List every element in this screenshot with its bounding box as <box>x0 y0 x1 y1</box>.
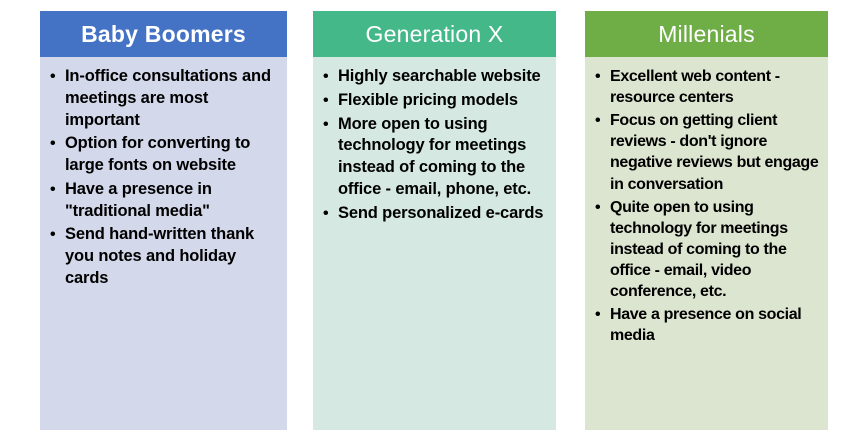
comparison-board: Baby Boomers In-office consultations and… <box>0 0 845 441</box>
list-item: Excellent web content - resource centers <box>593 66 820 108</box>
column-body-millenials: Excellent web content - resource centers… <box>585 57 828 430</box>
column-body-baby-boomers: In-office consultations and meetings are… <box>40 57 287 430</box>
list-item: Flexible pricing models <box>321 90 548 112</box>
list-item: Focus on getting client reviews - don't … <box>593 110 820 194</box>
list-item: More open to using technology for meetin… <box>321 114 548 201</box>
list-item: Quite open to using technology for meeti… <box>593 197 820 303</box>
list-item: Send personalized e-cards <box>321 203 548 225</box>
column-baby-boomers: Baby Boomers In-office consultations and… <box>40 11 287 430</box>
list-item: Have a presence in "traditional media" <box>48 179 279 223</box>
column-generation-x: Generation X Highly searchable website F… <box>313 11 556 430</box>
list-item: Send hand-written thank you notes and ho… <box>48 224 279 289</box>
column-header-millenials: Millenials <box>585 11 828 57</box>
list-item: Option for converting to large fonts on … <box>48 133 279 177</box>
column-header-generation-x: Generation X <box>313 11 556 57</box>
list-item: In-office consultations and meetings are… <box>48 66 279 131</box>
column-header-baby-boomers: Baby Boomers <box>40 11 287 57</box>
bullet-list-generation-x: Highly searchable website Flexible prici… <box>321 66 548 224</box>
column-millenials: Millenials Excellent web content - resou… <box>585 11 828 430</box>
bullet-list-baby-boomers: In-office consultations and meetings are… <box>48 66 279 290</box>
bullet-list-millenials: Excellent web content - resource centers… <box>593 66 820 346</box>
list-item: Have a presence on social media <box>593 304 820 346</box>
column-body-generation-x: Highly searchable website Flexible prici… <box>313 57 556 430</box>
list-item: Highly searchable website <box>321 66 548 88</box>
